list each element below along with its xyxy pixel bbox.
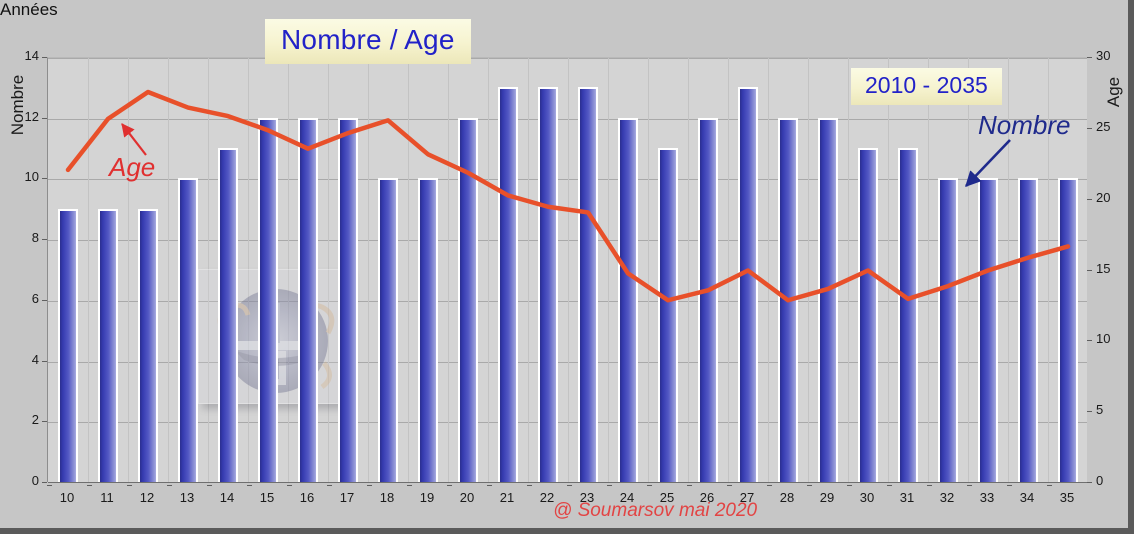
x-tick-label-17: 17 [325,490,369,505]
bar-14 [218,148,239,482]
x-tick-label-18: 18 [365,490,409,505]
x-tick-mark [767,485,772,486]
bar-22 [538,87,559,482]
y-left-tick-mark [42,118,47,119]
x-tick-mark [1047,485,1052,486]
y-left-tick-label: 6 [5,291,39,306]
x-tick-mark [167,485,172,486]
bar-29 [818,118,839,482]
vertical-gridline [408,58,409,482]
y-right-tick-mark [1087,482,1092,483]
y-right-tick-label: 30 [1096,48,1130,63]
x-tick-mark [487,485,492,486]
x-tick-label-28: 28 [765,490,809,505]
vertical-gridline [808,58,809,482]
x-tick-label-29: 29 [805,490,849,505]
bar-31 [898,148,919,482]
bar-27 [738,87,759,482]
x-tick-mark [367,485,372,486]
bar-18 [378,178,399,482]
x-tick-label-11: 11 [85,490,129,505]
y-right-tick-label: 0 [1096,473,1130,488]
vertical-gridline [848,58,849,482]
bar-21 [498,87,519,482]
y-right-tick-label: 10 [1096,331,1130,346]
bar-34 [1018,178,1039,482]
x-tick-label-13: 13 [165,490,209,505]
vertical-gridline [608,58,609,482]
y-left-tick-label: 12 [5,109,39,124]
y-right-tick-mark [1087,270,1092,271]
y-right-tick-mark [1087,340,1092,341]
x-tick-mark [967,485,972,486]
x-tick-mark [647,485,652,486]
vertical-gridline [88,58,89,482]
y-right-tick-mark [1087,411,1092,412]
x-tick-label-32: 32 [925,490,969,505]
bar-33 [978,178,999,482]
y-left-tick-label: 2 [5,412,39,427]
vertical-gridline [968,58,969,482]
vertical-gridline [768,58,769,482]
x-tick-label-16: 16 [285,490,329,505]
bar-19 [418,178,439,482]
bar-12 [138,209,159,482]
x-tick-label-20: 20 [445,490,489,505]
bar-13 [178,178,199,482]
x-tick-mark [607,485,612,486]
x-axis-title: Années [0,0,1128,20]
bar-20 [458,118,479,482]
x-tick-label-31: 31 [885,490,929,505]
y-left-tick-label: 0 [5,473,39,488]
y-right-tick-mark [1087,199,1092,200]
x-tick-mark [87,485,92,486]
x-tick-label-30: 30 [845,490,889,505]
vertical-gridline [248,58,249,482]
x-tick-mark [567,485,572,486]
x-tick-mark [207,485,212,486]
vertical-gridline [728,58,729,482]
bar-16 [298,118,319,482]
y-axis-left-title: Nombre [8,65,28,145]
bar-15 [258,118,279,482]
y-left-tick-mark [42,178,47,179]
x-tick-mark [1007,485,1012,486]
bar-23 [578,87,599,482]
x-tick-mark [807,485,812,486]
x-tick-mark [247,485,252,486]
y-left-tick-label: 14 [5,48,39,63]
vertical-gridline [208,58,209,482]
vertical-gridline [568,58,569,482]
annotation-age-label: Age [109,152,155,183]
x-tick-mark [447,485,452,486]
bar-32 [938,178,959,482]
chart-container: Nombre Age Années [0,0,1134,534]
x-tick-mark [127,485,132,486]
y-right-tick-mark [1087,128,1092,129]
x-tick-label-35: 35 [1045,490,1089,505]
vertical-gridline [888,58,889,482]
vertical-gridline [168,58,169,482]
y-left-tick-mark [42,57,47,58]
x-tick-label-14: 14 [205,490,249,505]
x-tick-mark [407,485,412,486]
y-left-tick-mark [42,482,47,483]
y-left-tick-mark [42,300,47,301]
vertical-gridline [528,58,529,482]
y-left-tick-mark [42,421,47,422]
plot-area [47,57,1087,482]
x-tick-mark [687,485,692,486]
y-left-tick-mark [42,361,47,362]
x-tick-mark [287,485,292,486]
x-tick-mark [727,485,732,486]
annotation-nombre-label: Nombre [978,110,1070,141]
y-right-tick-mark [1087,57,1092,58]
y-right-tick-label: 5 [1096,402,1130,417]
y-left-tick-label: 4 [5,352,39,367]
x-tick-label-34: 34 [1005,490,1049,505]
x-tick-mark [847,485,852,486]
x-tick-label-12: 12 [125,490,169,505]
x-tick-mark [327,485,332,486]
bar-25 [658,148,679,482]
vertical-gridline [368,58,369,482]
y-right-tick-label: 25 [1096,119,1130,134]
y-right-tick-label: 20 [1096,190,1130,205]
bar-10 [58,209,79,482]
x-tick-mark [887,485,892,486]
bar-26 [698,118,719,482]
bar-28 [778,118,799,482]
y-right-tick-label: 15 [1096,261,1130,276]
x-tick-label-33: 33 [965,490,1009,505]
gridline [48,482,1087,483]
credit-text: @ Soumarsov mai 2020 [553,500,757,522]
vertical-gridline [928,58,929,482]
y-axis-right-title: Age [1104,62,1124,122]
bar-30 [858,148,879,482]
y-left-tick-label: 10 [5,169,39,184]
vertical-gridline [328,58,329,482]
x-tick-label-10: 10 [45,490,89,505]
x-tick-label-19: 19 [405,490,449,505]
x-tick-label-15: 15 [245,490,289,505]
vertical-gridline [488,58,489,482]
vertical-gridline [688,58,689,482]
vertical-gridline [648,58,649,482]
vertical-gridline [288,58,289,482]
y-left-tick-label: 8 [5,230,39,245]
x-tick-mark [927,485,932,486]
vertical-gridline [128,58,129,482]
x-tick-mark [47,485,52,486]
bar-17 [338,118,359,482]
chart-subtitle: 2010 - 2035 [851,68,1002,105]
bar-24 [618,118,639,482]
y-left-tick-mark [42,239,47,240]
x-tick-mark [527,485,532,486]
bar-35 [1058,178,1079,482]
chart-title: Nombre / Age [265,19,471,64]
x-tick-label-21: 21 [485,490,529,505]
bar-11 [98,209,119,482]
vertical-gridline [448,58,449,482]
